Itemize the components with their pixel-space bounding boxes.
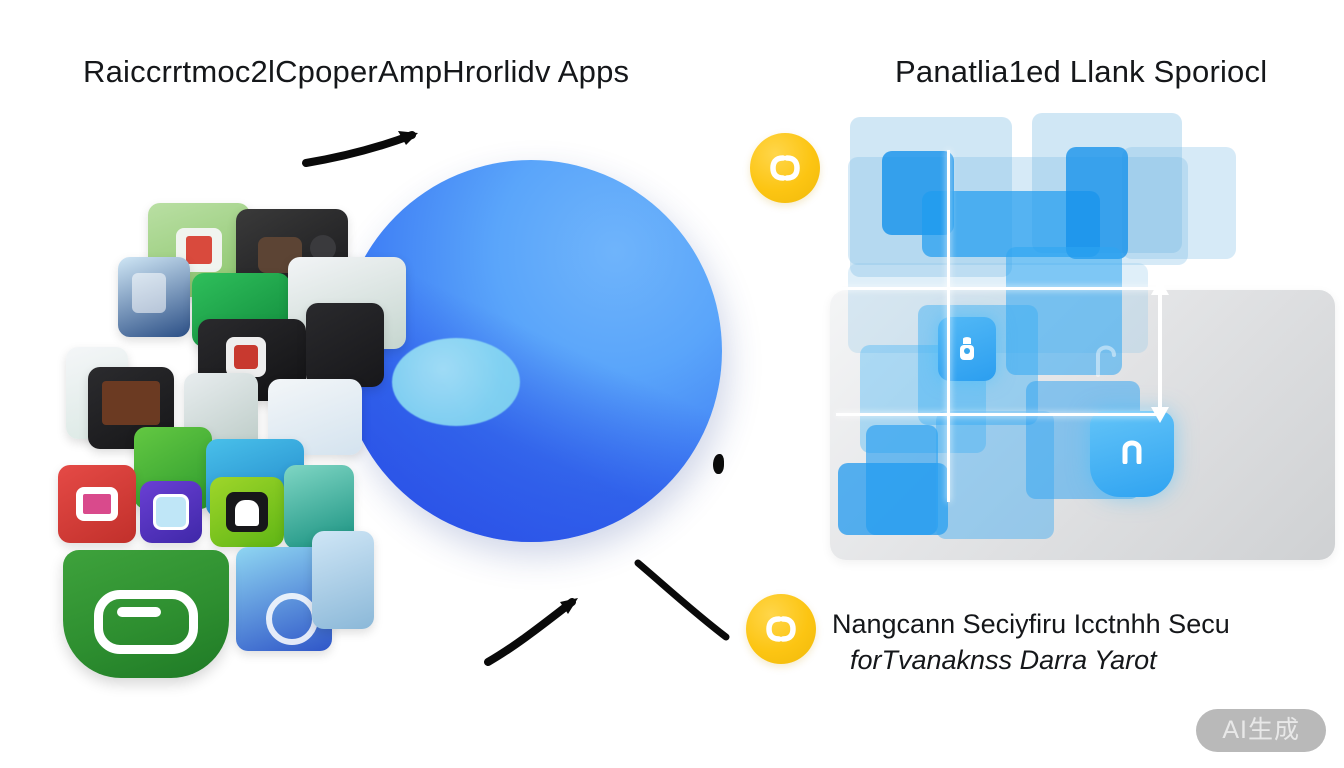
link-badge-bottom[interactable] [746,594,816,664]
left-illustration-group [0,90,760,700]
page-title-left: Raiccrrtmoc2lCpoperAmpHrorlidv Apps [83,54,629,90]
guide-line-horizontal-upper [776,287,1156,290]
right-illustration-group [740,95,1340,595]
diagonal-stroke-down-right-icon [630,555,740,645]
lock-body-icon [956,336,978,362]
app-tile [140,481,202,543]
tile-glyph [153,494,189,530]
page-title-right: Panatlia1ed Llank Sporiocl [895,54,1267,90]
link-icon [765,614,797,644]
tile-glyph [226,492,268,532]
caption-line-1: Nangcann Seciyfiru Icctnhh Secu [832,606,1302,642]
app-icons-collage [38,195,428,675]
blue-block [1122,147,1236,259]
curved-arrow-right-icon [300,125,430,175]
small-dot-mark-icon [713,454,724,474]
guide-line-vertical [947,150,950,502]
guide-line-horizontal-lower [836,413,1160,416]
app-tile [210,477,284,547]
illustration-canvas: Raiccrrtmoc2lCpoperAmpHrorlidv Apps Pana… [0,0,1344,768]
shield-glyph-icon [94,590,198,654]
link-badge-top[interactable] [750,133,820,203]
ai-generated-watermark: AI生成 [1196,709,1326,752]
app-tile [306,303,384,387]
caption-block: Nangcann Seciyfiru Icctnhh Secu forTvana… [832,606,1302,678]
app-tile [118,257,190,337]
lock-shackle-icon [1117,436,1147,464]
app-tile [312,531,374,629]
diagonal-stroke-up-right-icon [480,590,590,670]
app-tile [58,465,136,543]
tile-glyph [76,487,118,521]
blue-block-solid [866,425,938,535]
white-dimension-arrow [1140,277,1180,425]
blue-block-solid [1066,147,1128,259]
blue-block-solid [936,411,1054,539]
outline-lock-icon [1088,339,1122,379]
caption-line-2: forTvanaknss Darra Yarot [850,642,1302,678]
green-shield-app-icon [63,550,229,678]
link-icon [769,153,801,183]
